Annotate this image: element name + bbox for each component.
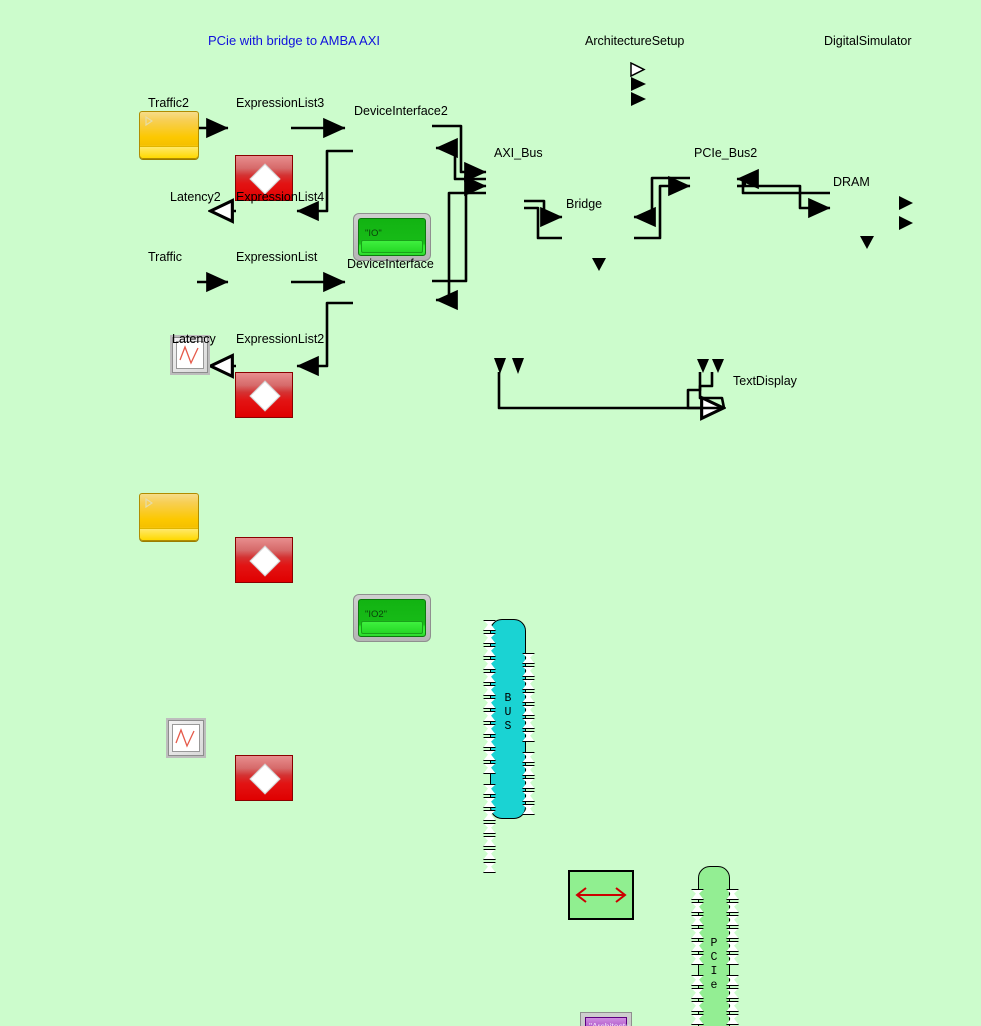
block-expressionlist[interactable] — [235, 537, 293, 583]
deviceinterface2-bar — [361, 240, 423, 253]
play-triangle-icon — [145, 116, 153, 126]
architecturesetup-output-arrows — [630, 62, 652, 106]
axi-bus-left-ports[interactable] — [483, 620, 494, 875]
label-axi-bus: AXI_Bus — [494, 146, 543, 160]
label-expressionlist: ExpressionList — [236, 250, 317, 264]
label-traffic2: Traffic2 — [148, 96, 189, 110]
block-architecturesetup[interactable]: "Architectu... — [580, 1012, 632, 1026]
label-digitalsimulator: DigitalSimulator — [824, 34, 912, 48]
block-traffic[interactable] — [139, 493, 199, 541]
latency-screen — [172, 724, 200, 752]
dram-output-arrows — [899, 196, 917, 242]
waveform-plot-icon — [173, 725, 199, 751]
dram-bottom-arrow — [858, 236, 876, 250]
architecturesetup-body: "Architectu... — [585, 1017, 627, 1026]
diamond-icon — [249, 763, 280, 794]
double-arrow-icon — [574, 884, 628, 906]
pcie-bus2-right-ports[interactable] — [726, 889, 737, 1026]
axi-bus-right-ports[interactable] — [522, 653, 533, 817]
traffic-band — [140, 528, 198, 540]
label-bridge: Bridge — [566, 197, 602, 211]
block-deviceinterface[interactable]: "IO2" — [353, 594, 431, 642]
label-latency2: Latency2 — [170, 190, 221, 204]
deviceinterface-value: "IO2" — [365, 609, 387, 620]
pcie-bus2-left-ports[interactable] — [691, 889, 702, 1026]
label-dram: DRAM — [833, 175, 870, 189]
block-latency[interactable] — [166, 718, 206, 758]
deviceinterface2-value: "IO" — [365, 228, 382, 239]
axi-bus-output-arrows — [488, 358, 528, 376]
page-title: PCie with bridge to AMBA AXI — [208, 33, 380, 48]
deviceinterface-body: "IO2" — [358, 599, 426, 637]
block-bridge[interactable] — [568, 870, 634, 920]
block-diagram-canvas: PCie with bridge to AMBA AXI Traffic2 Ex… — [0, 0, 981, 513]
architecturesetup-value: "Architectu... — [589, 1021, 637, 1026]
bridge-output-arrow — [590, 258, 608, 272]
play-triangle-icon — [145, 498, 153, 508]
label-pcie-bus2: PCIe_Bus2 — [694, 146, 757, 160]
block-expressionlist2[interactable] — [235, 755, 293, 801]
deviceinterface2-body: "IO" — [358, 218, 426, 256]
label-architecturesetup: ArchitectureSetup — [585, 34, 684, 48]
label-expressionlist4: ExpressionList4 — [236, 190, 324, 204]
block-expressionlist4[interactable] — [235, 372, 293, 418]
pcie-bus2-output-arrows — [694, 359, 734, 375]
pcie-bus2-value: PCIe — [699, 937, 729, 993]
block-pcie-bus2[interactable]: PCIe — [698, 866, 730, 1026]
block-traffic2[interactable] — [139, 111, 199, 159]
label-expressionlist2: ExpressionList2 — [236, 332, 324, 346]
diamond-icon — [249, 380, 280, 411]
label-textdisplay: TextDisplay — [733, 374, 797, 388]
diamond-icon — [249, 545, 280, 576]
block-deviceinterface2[interactable]: "IO" — [353, 213, 431, 261]
label-deviceinterface: DeviceInterface — [347, 257, 434, 271]
block-axi-bus[interactable]: BUS — [490, 619, 526, 819]
label-latency: Latency — [172, 332, 216, 346]
label-expressionlist3: ExpressionList3 — [236, 96, 324, 110]
axi-bus-value: BUS — [491, 692, 525, 734]
traffic2-band — [140, 146, 198, 158]
deviceinterface-bar — [361, 621, 423, 634]
label-deviceinterface2: DeviceInterface2 — [354, 104, 448, 118]
label-traffic: Traffic — [148, 250, 182, 264]
